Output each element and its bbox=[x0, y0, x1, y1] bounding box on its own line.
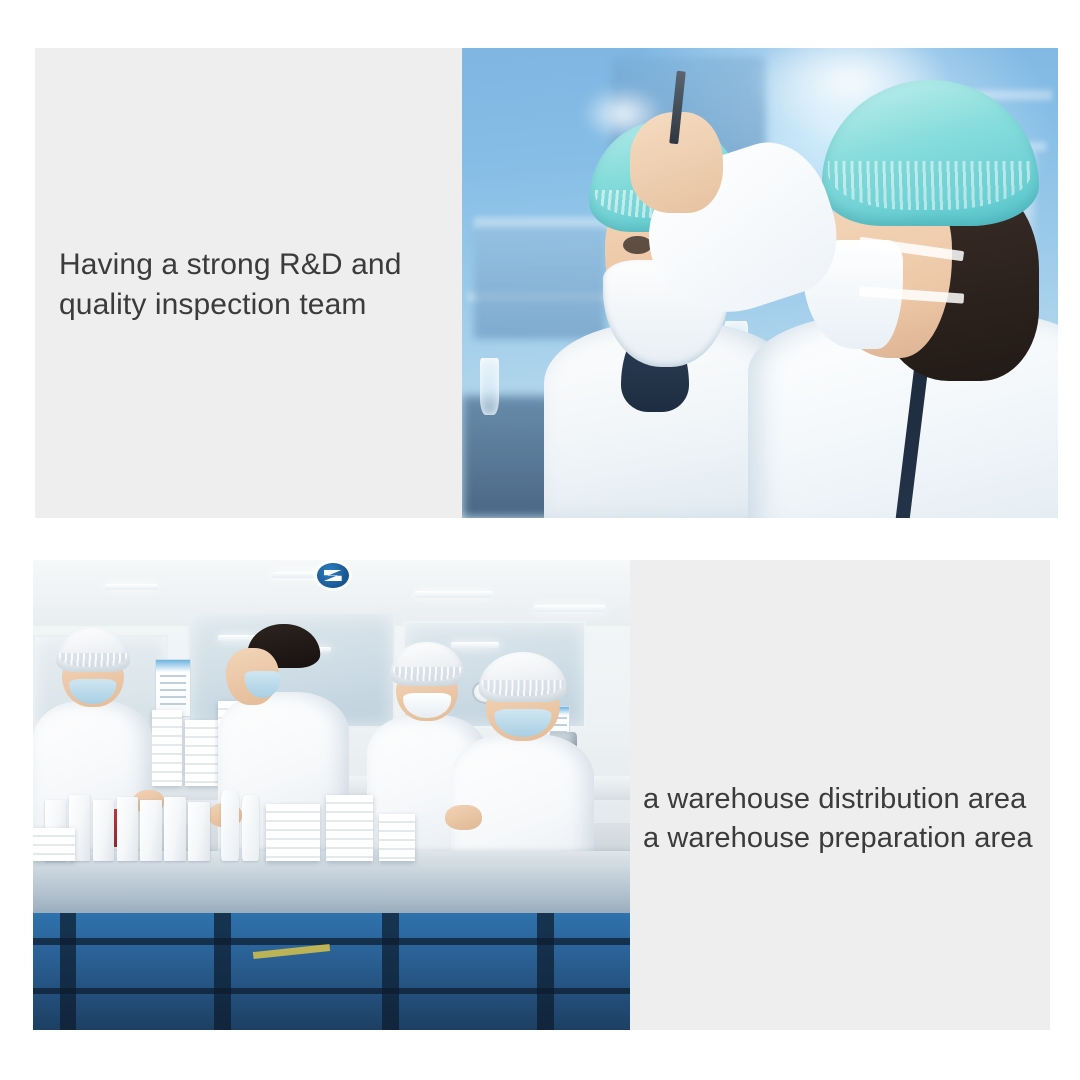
carton bbox=[140, 800, 161, 861]
frame-leg bbox=[537, 913, 554, 1031]
carton-stack bbox=[33, 828, 75, 861]
carton bbox=[117, 797, 138, 860]
window-lamp bbox=[451, 642, 499, 648]
steel-table-top bbox=[33, 851, 630, 917]
company-logo-icon bbox=[317, 563, 349, 588]
yellow-marker bbox=[253, 944, 331, 959]
ceiling-lamp bbox=[415, 591, 493, 598]
carton bbox=[164, 797, 185, 860]
hand bbox=[445, 805, 482, 830]
frame-leg bbox=[60, 913, 77, 1031]
section-rnd-quality: Having a strong R&D and quality inspecti… bbox=[35, 48, 1058, 518]
caption-panel-warehouse: a warehouse distribution area a warehous… bbox=[630, 560, 1050, 1030]
carton-stack bbox=[266, 804, 320, 860]
carton-stack bbox=[185, 720, 218, 786]
poster-text-lines bbox=[160, 675, 187, 710]
glass-vial bbox=[480, 358, 499, 414]
lab-worker-right bbox=[760, 62, 1058, 518]
carton bbox=[93, 800, 114, 861]
photo-lab-inspection bbox=[462, 48, 1058, 518]
packing-scene-illustration bbox=[33, 560, 630, 1030]
caption-rnd-quality: Having a strong R&D and quality inspecti… bbox=[35, 245, 413, 325]
hair-cap bbox=[822, 80, 1039, 226]
photo-warehouse-packing bbox=[33, 560, 630, 1030]
poster-page: Having a strong R&D and quality inspecti… bbox=[0, 0, 1080, 1080]
carton bbox=[188, 802, 209, 861]
frame-leg bbox=[214, 913, 231, 1031]
caption-panel-rnd: Having a strong R&D and quality inspecti… bbox=[35, 48, 462, 518]
section-warehouse: a warehouse distribution area a warehous… bbox=[33, 560, 1050, 1030]
ceiling-lamp bbox=[534, 605, 606, 612]
bottle bbox=[221, 790, 239, 861]
carton-stack bbox=[152, 710, 182, 785]
bottle bbox=[242, 795, 259, 861]
lab-scene-illustration bbox=[462, 48, 1058, 518]
notice-poster bbox=[155, 659, 190, 717]
table-frame bbox=[33, 913, 630, 1031]
caption-warehouse: a warehouse distribution area a warehous… bbox=[630, 780, 1039, 858]
carton-stack bbox=[379, 814, 415, 861]
frame-leg bbox=[382, 913, 399, 1031]
carton-stack bbox=[326, 795, 374, 861]
ceiling-lamp bbox=[105, 584, 159, 591]
